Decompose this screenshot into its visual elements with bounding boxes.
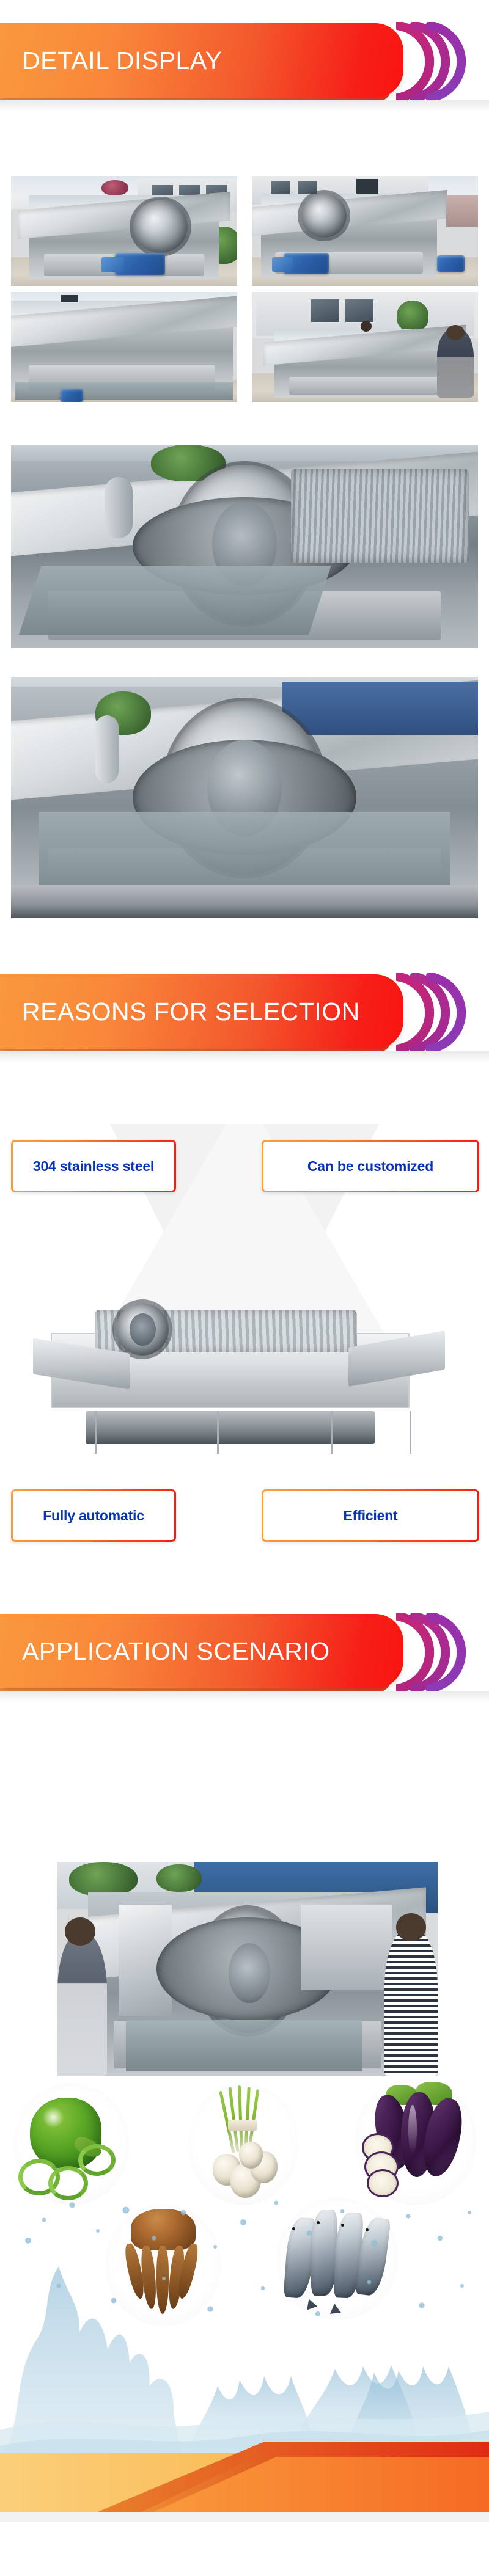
feature-label-material: 304 stainless steel <box>13 1142 174 1191</box>
banner-title-reasons-for-selection: REASONS FOR SELECTION <box>22 974 389 1049</box>
product-detail-page: DETAIL DISPLAY <box>0 0 489 2576</box>
feature-label-customization: Can be customized <box>263 1142 477 1191</box>
feature-label-efficiency: Efficient <box>263 1491 477 1540</box>
photo-machine-outdoor-right <box>252 176 478 286</box>
feature-box-material[interactable]: 304 stainless steel <box>11 1140 176 1192</box>
banner-arcs-icon <box>396 22 488 101</box>
banner-reasons-for-selection: REASONS FOR SELECTION <box>0 968 489 1063</box>
banner-application-scenario: APPLICATION SCENARIO <box>0 1608 489 1702</box>
banner-title-detail-display: DETAIL DISPLAY <box>22 23 389 98</box>
banner-arcs-icon <box>396 973 488 1053</box>
feature-box-efficiency[interactable]: Efficient <box>262 1489 479 1542</box>
feature-box-automation[interactable]: Fully automatic <box>11 1489 176 1542</box>
banner-title-application-scenario: APPLICATION SCENARIO <box>22 1614 389 1688</box>
banner-shadow-strip <box>0 1051 489 1063</box>
photo-machine-full-side <box>24 1290 462 1454</box>
photo-machine-drum-wide <box>11 445 478 648</box>
feature-label-automation: Fully automatic <box>13 1491 174 1540</box>
feature-box-customization[interactable]: Can be customized <box>262 1140 479 1192</box>
photo-machine-outdoor-left <box>11 176 237 286</box>
banner-shadow-strip <box>0 1691 489 1702</box>
photo-machine-operator <box>252 292 478 402</box>
photo-machine-trough-left <box>11 292 237 402</box>
banner-detail-display: DETAIL DISPLAY <box>0 17 489 112</box>
water-splash-graphic <box>0 2175 489 2474</box>
banner-shadow-strip <box>0 100 489 112</box>
photo-machine-drum-front <box>11 677 478 918</box>
photo-machine-demo-with-customers <box>57 1862 438 2076</box>
footer-banner <box>0 2437 489 2547</box>
banner-arcs-icon <box>396 1613 488 1692</box>
